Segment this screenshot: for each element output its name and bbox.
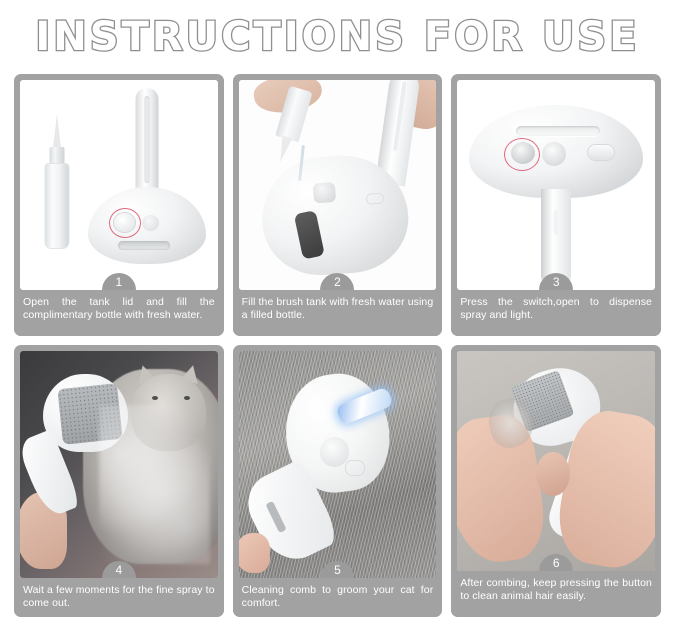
water-tank-window-icon — [118, 241, 170, 250]
tank-fill-port-icon — [313, 181, 336, 202]
page-title: INSTRUCTIONS FOR USE — [35, 17, 639, 57]
tank-slot-icon — [516, 126, 599, 136]
brush-pins-icon — [57, 383, 122, 445]
handle-slot-icon — [144, 96, 149, 183]
thumb-pressing-button-icon — [536, 452, 570, 496]
grooming-brush-graphic — [28, 374, 135, 515]
step-card-3: 3 Press the switch,open to dispense spra… — [451, 74, 661, 336]
steps-grid: 1 Open the tank lid and fill the complim… — [0, 74, 675, 617]
bottle-tip-icon — [53, 114, 61, 148]
step-photo-3: 3 — [457, 80, 655, 290]
grooming-brush-graphic — [88, 88, 206, 281]
scene-bottle-and-device — [20, 80, 218, 290]
handle-slot-icon — [554, 210, 559, 235]
highlight-ring-icon — [504, 138, 540, 171]
page-header: INSTRUCTIONS FOR USE — [0, 0, 675, 74]
knob-icon — [320, 437, 350, 467]
water-tank-window-icon — [294, 210, 325, 260]
side-button-icon — [345, 460, 365, 476]
brush-head-icon — [88, 187, 206, 264]
release-button-icon — [588, 145, 614, 160]
highlight-ring-icon — [109, 208, 141, 238]
brush-handle-icon — [541, 189, 571, 281]
cat-head-icon — [131, 374, 206, 451]
step-caption-3: Press the switch,open to dispense spray … — [451, 290, 661, 336]
knob-icon — [142, 215, 159, 231]
step-caption-1: Open the tank lid and fill the complimen… — [14, 290, 224, 336]
step-caption-6: After combing, keep pressing the button … — [451, 571, 661, 617]
step-card-5: 5 Cleaning comb to groom your cat for co… — [233, 345, 443, 617]
scene-hand-pouring-water — [239, 80, 437, 290]
step-caption-5: Cleaning comb to groom your cat for comf… — [233, 578, 443, 617]
scene-brush-spraying-cat — [20, 351, 218, 578]
bottle-body-icon — [44, 163, 69, 249]
step-caption-4: Wait a few moments for the fine spray to… — [14, 578, 224, 617]
step-photo-5: 5 — [239, 351, 437, 578]
step-photo-1: 1 — [20, 80, 218, 290]
step-card-2: 2 Fill the brush tank with fresh water u… — [233, 74, 443, 336]
bottle-neck-icon — [49, 147, 64, 164]
finger-icon — [239, 533, 271, 574]
scene-switch-closeup — [457, 80, 655, 290]
step-card-1: 1 Open the tank lid and fill the complim… — [14, 74, 224, 336]
side-button-icon — [366, 192, 385, 204]
step-card-4: 4 Wait a few moments for the fine spray … — [14, 345, 224, 617]
instructions-page: INSTRUCTIONS FOR USE — [0, 0, 675, 639]
step-photo-2: 2 — [239, 80, 437, 290]
scene-brush-on-fur — [239, 351, 437, 578]
handle-slot-icon — [392, 81, 406, 151]
step-photo-4: 4 — [20, 351, 218, 578]
step-photo-6: 6 — [457, 351, 655, 571]
step-card-6: 6 After combing, keep pressing the butto… — [451, 345, 661, 617]
dropper-bottle-graphic — [44, 114, 70, 249]
scene-hands-cleaning-hair — [457, 351, 655, 571]
brush-head-icon — [469, 105, 643, 197]
knob-icon — [542, 142, 566, 166]
step-caption-2: Fill the brush tank with fresh water usi… — [233, 290, 443, 336]
